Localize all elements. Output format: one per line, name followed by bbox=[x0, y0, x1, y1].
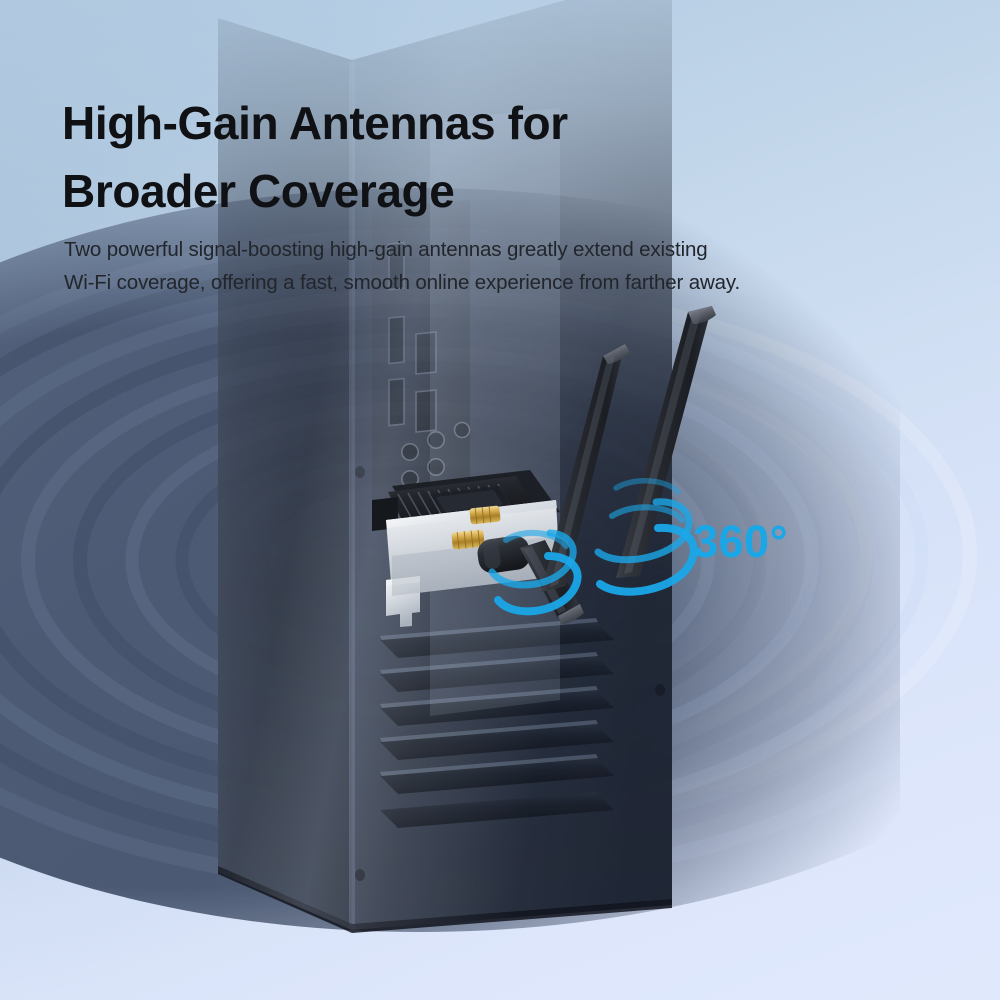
banner-stage: High-Gain Antennas for Broader Coverage … bbox=[0, 0, 1000, 1000]
page-subcopy: Two powerful signal-boosting high-gain a… bbox=[64, 233, 884, 299]
rotation-label: 360° bbox=[693, 519, 788, 564]
page-title: High-Gain Antennas for Broader Coverage bbox=[62, 89, 762, 225]
